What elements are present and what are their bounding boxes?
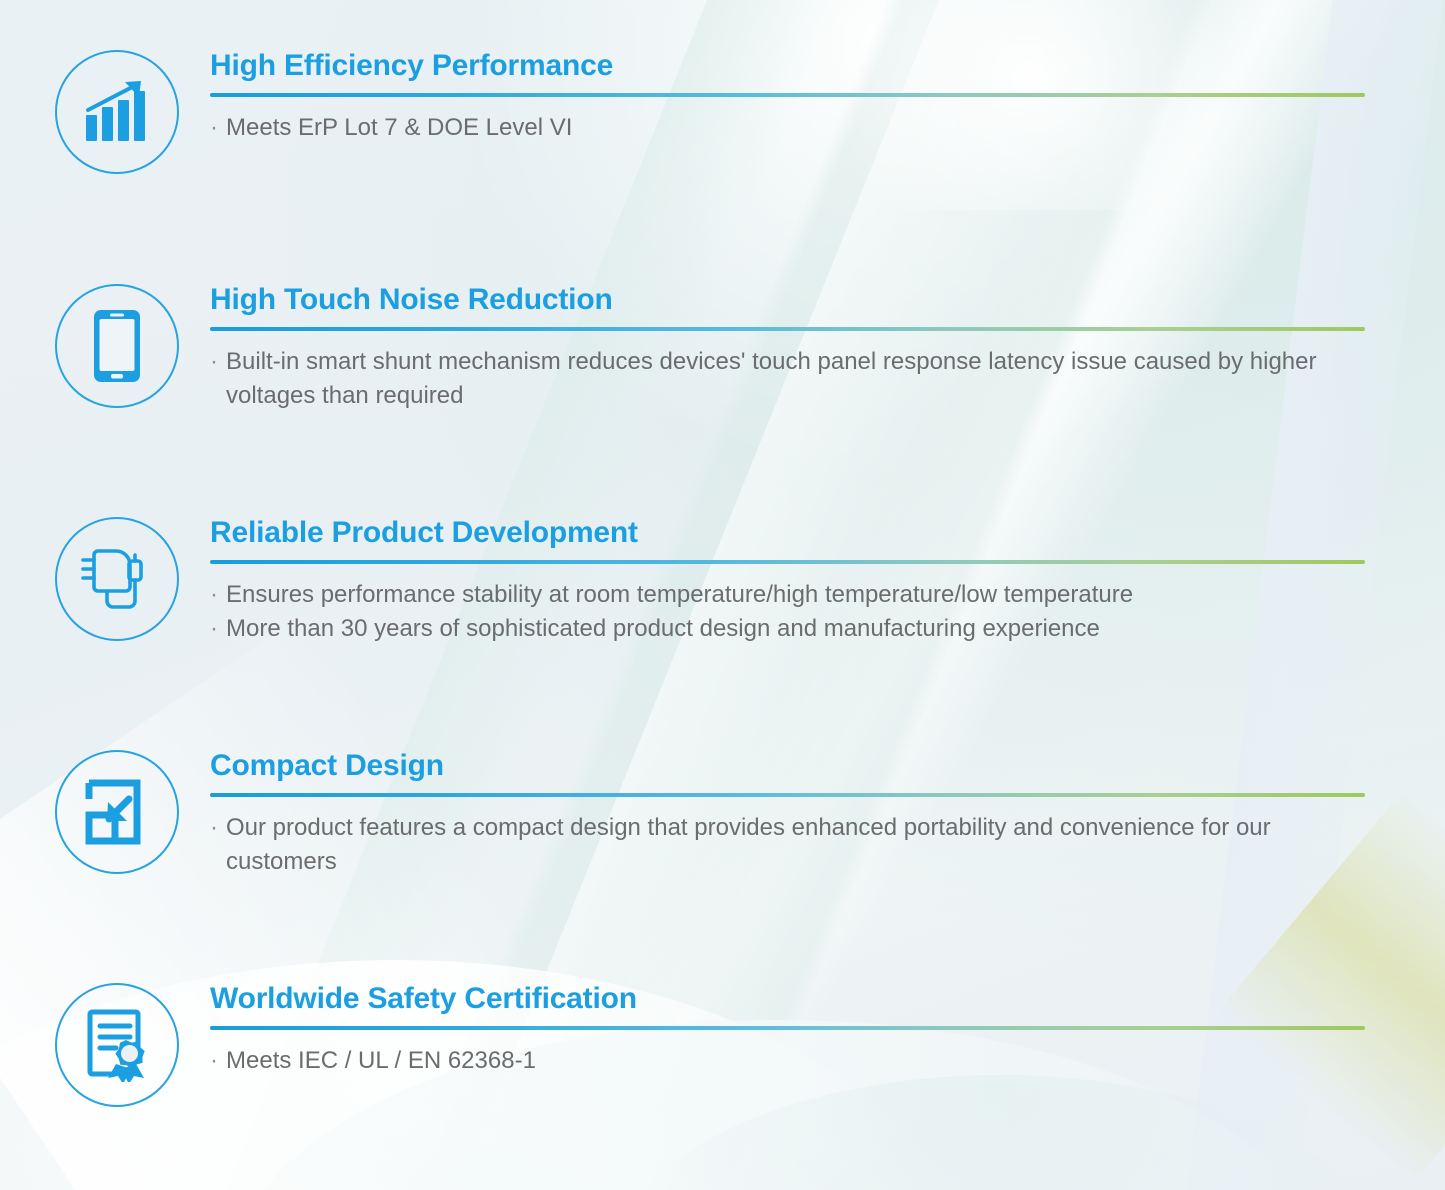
title-underline-rule (210, 793, 1365, 797)
certificate-award-icon (55, 983, 179, 1107)
feature-line-text: Built-in smart shunt mechanism reduces d… (226, 345, 1370, 414)
feature-lines: · Ensures performance stability at room … (210, 578, 1370, 647)
bullet-dot: · (210, 811, 218, 846)
feature-title: Compact Design (210, 750, 1370, 782)
feature-highlights-page: High Efficiency Performance · Meets ErP … (0, 0, 1445, 1190)
feature-line-text: Our product features a compact design th… (226, 811, 1370, 880)
smartphone-icon (55, 284, 179, 408)
feature-lines: · Our product features a compact design … (210, 811, 1370, 880)
feature-body: Worldwide Safety Certification · Meets I… (210, 983, 1370, 1078)
feature-line: · Built-in smart shunt mechanism reduces… (210, 345, 1370, 414)
feature-lines: · Built-in smart shunt mechanism reduces… (210, 345, 1370, 414)
bottom-swoop-3 (620, 1075, 1380, 1190)
feature-body: Reliable Product Development · Ensures p… (210, 517, 1370, 647)
feature-lines: · Meets ErP Lot 7 & DOE Level VI (210, 111, 1370, 146)
feature-line: · Meets ErP Lot 7 & DOE Level VI (210, 111, 1370, 146)
feature-title: High Touch Noise Reduction (210, 284, 1370, 316)
power-adapter-icon (55, 517, 179, 641)
feature-line-text: Ensures performance stability at room te… (226, 578, 1133, 613)
bullet-dot: · (210, 345, 218, 380)
compact-resize-icon (55, 750, 179, 874)
feature-title: High Efficiency Performance (210, 50, 1370, 82)
feature-body: Compact Design · Our product features a … (210, 750, 1370, 880)
feature-line: · Our product features a compact design … (210, 811, 1370, 880)
title-underline-rule (210, 560, 1365, 564)
bullet-dot: · (210, 111, 218, 146)
feature-title: Reliable Product Development (210, 517, 1370, 549)
feature-line: · Meets IEC / UL / EN 62368-1 (210, 1044, 1370, 1079)
feature-line-text: Meets IEC / UL / EN 62368-1 (226, 1044, 536, 1079)
bullet-dot: · (210, 1044, 218, 1079)
feature-title: Worldwide Safety Certification (210, 983, 1370, 1015)
bullet-dot: · (210, 578, 218, 613)
title-underline-rule (210, 1026, 1365, 1030)
feature-line-text: Meets ErP Lot 7 & DOE Level VI (226, 111, 572, 146)
feature-line: · More than 30 years of sophisticated pr… (210, 612, 1370, 647)
bar-chart-growth-icon (55, 50, 179, 174)
title-underline-rule (210, 93, 1365, 97)
feature-body: High Touch Noise Reduction · Built-in sm… (210, 284, 1370, 414)
title-underline-rule (210, 327, 1365, 331)
feature-line-text: More than 30 years of sophisticated prod… (226, 612, 1100, 647)
feature-line: · Ensures performance stability at room … (210, 578, 1370, 613)
feature-body: High Efficiency Performance · Meets ErP … (210, 50, 1370, 145)
feature-lines: · Meets IEC / UL / EN 62368-1 (210, 1044, 1370, 1079)
diagonal-band-4 (0, 609, 602, 1190)
bullet-dot: · (210, 612, 218, 647)
